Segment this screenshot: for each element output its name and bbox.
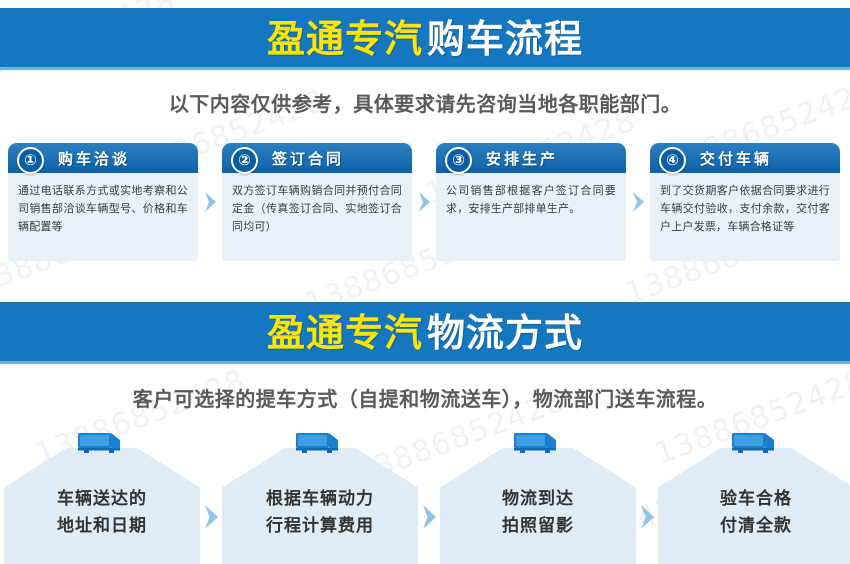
logistics-card-line1: 物流到达: [440, 486, 636, 513]
step-header-4: ④ 交付车辆: [650, 143, 840, 173]
step-body-4: 到了交货期客户依据合同要求进行车辆交付验收，支付余款，交付客户上户发票，车辆合格…: [650, 173, 840, 242]
logistics-card-line1: 车辆送达的: [4, 486, 200, 513]
logistics-banner: 盈通专汽物流方式: [0, 302, 850, 364]
chevron-right-icon: [417, 191, 432, 213]
chevron-right-icon: [203, 191, 218, 213]
logistics-subtitle: 客户可选择的提车方式（自提和物流送车），物流部门送车流程。: [0, 383, 850, 412]
step-body-2: 双方签订车辆购销合同并预付合同定金（传真签订合同、实地签订合同均可）: [222, 173, 412, 242]
logistics-card-label-2: 根据车辆动力 行程计算费用: [222, 486, 418, 540]
banner-suffix: 物流方式: [427, 311, 583, 355]
step-arrow-3: [626, 143, 650, 261]
logistics-card-2[interactable]: 根据车辆动力 行程计算费用: [222, 430, 418, 564]
logistics-card-label-3: 物流到达 拍照留影: [440, 486, 636, 540]
truck-icon: [76, 430, 128, 456]
step-number-4: ④: [659, 147, 686, 174]
logistics-card-4[interactable]: 验车合格 付清全款: [658, 430, 850, 564]
logistics-card-line1: 根据车辆动力: [222, 486, 418, 513]
step-header-2: ② 签订合同: [222, 143, 412, 173]
step-title-3: 安排生产: [486, 148, 558, 169]
step-title-2: 签订合同: [272, 148, 344, 169]
brand-name: 盈通专汽: [267, 311, 423, 355]
chevron-right-icon: [631, 191, 646, 213]
chevron-right-icon: [421, 504, 438, 530]
truck-icon: [512, 430, 564, 456]
purchase-and-logistics-infographic: 13886852428 13886852428 13886852428 1388…: [0, 0, 850, 564]
logistics-card-label-1: 车辆送达的 地址和日期: [4, 486, 200, 540]
step-number-1: ①: [17, 147, 44, 174]
step-card-3[interactable]: ③ 安排生产 公司销售部根据客户签订合同要求，安排生产部排单生产。: [436, 143, 626, 261]
step-body-3: 公司销售部根据客户签订合同要求，安排生产部排单生产。: [436, 173, 626, 224]
step-header-1: ① 购车洽谈: [8, 143, 198, 173]
chevron-right-icon: [203, 504, 220, 530]
purchase-flow-banner-title: 盈通专汽购车流程: [267, 20, 583, 58]
logistics-arrow-1: [200, 430, 222, 564]
step-card-4[interactable]: ④ 交付车辆 到了交货期客户依据合同要求进行车辆交付验收，支付余款，交付客户上户…: [650, 143, 840, 261]
logistics-card-line2: 付清全款: [658, 513, 850, 540]
logistics-arrow-2: [418, 430, 440, 564]
logistics-card-line1: 验车合格: [658, 486, 850, 513]
logistics-banner-title: 盈通专汽物流方式: [267, 314, 583, 352]
logistics-card-line2: 拍照留影: [440, 513, 636, 540]
truck-icon: [730, 430, 782, 456]
step-title-1: 购车洽谈: [58, 148, 130, 169]
step-card-1[interactable]: ① 购车洽谈 通过电话联系方式或实地考察和公司销售部洽谈车辆型号、价格和车辆配置…: [8, 143, 198, 261]
step-body-1: 通过电话联系方式或实地考察和公司销售部洽谈车辆型号、价格和车辆配置等: [8, 173, 198, 242]
purchase-flow-subtitle: 以下内容仅供参考，具体要求请先咨询当地各职能部门。: [0, 88, 850, 117]
logistics-card-line2: 地址和日期: [4, 513, 200, 540]
logistics-card-3[interactable]: 物流到达 拍照留影: [440, 430, 636, 564]
logistics-card-line2: 行程计算费用: [222, 513, 418, 540]
step-card-2[interactable]: ② 签订合同 双方签订车辆购销合同并预付合同定金（传真签订合同、实地签订合同均可…: [222, 143, 412, 261]
step-arrow-1: [198, 143, 222, 261]
step-number-3: ③: [445, 147, 472, 174]
logistics-cards-row: 车辆送达的 地址和日期 根据车辆动力: [4, 430, 846, 564]
brand-name: 盈通专汽: [267, 17, 423, 61]
step-number-2: ②: [231, 147, 258, 174]
banner-suffix: 购车流程: [427, 17, 583, 61]
truck-icon: [294, 430, 346, 456]
logistics-card-label-4: 验车合格 付清全款: [658, 486, 850, 540]
step-header-3: ③ 安排生产: [436, 143, 626, 173]
purchase-steps-row: ① 购车洽谈 通过电话联系方式或实地考察和公司销售部洽谈车辆型号、价格和车辆配置…: [8, 143, 842, 263]
step-title-4: 交付车辆: [700, 148, 772, 169]
step-arrow-2: [412, 143, 436, 261]
chevron-right-icon: [639, 504, 656, 530]
logistics-arrow-3: [636, 430, 658, 564]
purchase-flow-banner: 盈通专汽购车流程: [0, 8, 850, 70]
logistics-card-1[interactable]: 车辆送达的 地址和日期: [4, 430, 200, 564]
